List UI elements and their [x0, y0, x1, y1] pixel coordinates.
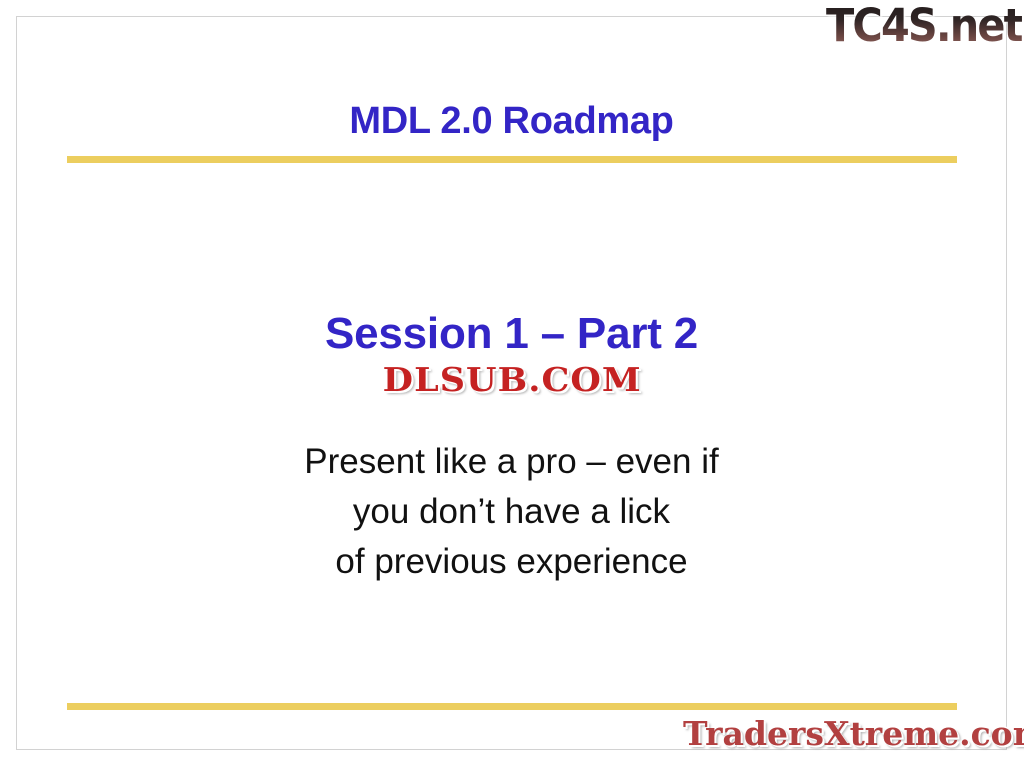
body-line-2: you don’t have a lick [17, 487, 1006, 537]
watermark-tradersxtreme: TradersXtreme.com [683, 714, 1024, 753]
page-title: MDL 2.0 Roadmap [17, 100, 1006, 143]
session-heading: Session 1 – Part 2 [17, 309, 1006, 359]
body-copy: Present like a pro – even if you don’t h… [17, 437, 1006, 587]
watermark-tc4s: TC4S.net [826, 0, 1022, 52]
body-line-3: of previous experience [17, 537, 1006, 587]
slide-frame: MDL 2.0 Roadmap Session 1 – Part 2 Prese… [16, 16, 1007, 750]
divider-bottom [67, 703, 957, 710]
body-line-1: Present like a pro – even if [17, 437, 1006, 487]
divider-top [67, 156, 957, 163]
